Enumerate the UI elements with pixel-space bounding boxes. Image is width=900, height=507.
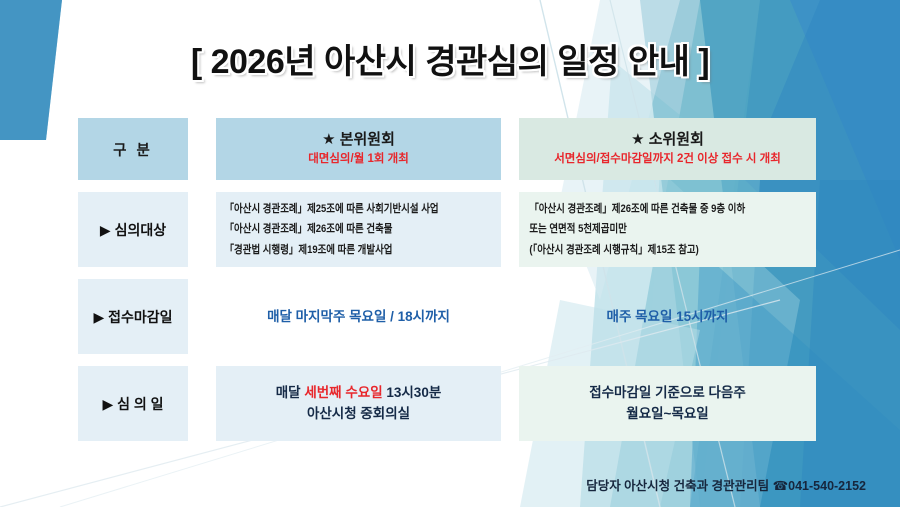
legal-line: 「아산시 경관조례」제26조에 따른 건축물 중 9층 이하 — [519, 199, 774, 219]
header-main-title: ★ 본위원회 — [322, 131, 395, 150]
star-icon: ★ — [631, 131, 644, 148]
header-cell-sub-committee: ★ 소위원회 서면심의/접수마감일까지 2건 이상 접수 시 개최 — [519, 118, 816, 180]
cell-sub-review-target: 「아산시 경관조례」제26조에 따른 건축물 중 9층 이하 또는 연면적 5천… — [519, 192, 816, 267]
slide-canvas: [ 2026년 아산시 경관심의 일정 안내 ] 구 분 ★ 본위원회 대면심의… — [0, 0, 900, 507]
table-header-row: 구 분 ★ 본위원회 대면심의/월 1회 개최 ★ 소위원회 서면심의/접수마감… — [78, 118, 826, 180]
header-sub-title: ★ 소위원회 — [631, 131, 704, 150]
footer-contact: 담당자 아산시청 건축과 경관관리팀 ☎041-540-2152 — [586, 475, 866, 494]
cell-main-review-date: 매달 세번째 수요일 13시30분 아산시청 중회의실 — [216, 366, 501, 441]
review-date-prefix: 매달 — [276, 385, 305, 400]
review-date-main-line1: 매달 세번째 수요일 13시30분 — [216, 383, 501, 403]
row-label-review-date: ▶ 심 의 일 — [78, 366, 188, 441]
legal-line: (「아산시 경관조례 시행규칙」제15조 참고) — [519, 240, 774, 260]
cell-main-review-target: 「아산시 경관조례」제25조에 따른 사회기반시설 사업 「아산시 경관조례」제… — [216, 192, 501, 267]
cell-main-submission-deadline: 매달 마지막주 목요일 / 18시까지 — [216, 279, 501, 354]
slide-title-container: [ 2026년 아산시 경관심의 일정 안내 ] — [0, 34, 900, 83]
deadline-main-text: 매달 마지막주 목요일 / 18시까지 — [216, 307, 501, 327]
review-date-sub-line1: 접수마감일 기준으로 다음주 — [519, 383, 816, 403]
legal-line: 「경관법 시행령」제19조에 따른 개발사업 — [216, 240, 461, 260]
review-date-main-line2: 아산시청 중회의실 — [216, 404, 501, 424]
table-row: ▶ 접수마감일 매달 마지막주 목요일 / 18시까지 매주 목요일 15시까지 — [78, 279, 826, 354]
row-label-submission-deadline: ▶ 접수마감일 — [78, 279, 188, 354]
header-cell-main-committee: ★ 본위원회 대면심의/월 1회 개최 — [216, 118, 501, 180]
table-row: ▶ 심의대상 「아산시 경관조례」제25조에 따른 사회기반시설 사업 「아산시… — [78, 192, 826, 267]
row-label-review-target: ▶ 심의대상 — [78, 192, 188, 267]
header-sub-title-text: 소위원회 — [649, 131, 704, 148]
review-date-sub-line2: 월요일~목요일 — [519, 404, 816, 424]
table-row: ▶ 심 의 일 매달 세번째 수요일 13시30분 아산시청 중회의실 접수마감… — [78, 366, 826, 441]
page-title: [ 2026년 아산시 경관심의 일정 안내 ] — [191, 34, 709, 83]
row-label-text: ▶ 심의대상 — [100, 220, 166, 240]
header-main-subtitle: 대면심의/월 1회 개최 — [308, 152, 409, 167]
header-main-title-text: 본위원회 — [340, 131, 395, 148]
review-date-suffix: 13시30분 — [383, 385, 442, 400]
legal-line: 「아산시 경관조례」제25조에 따른 사회기반시설 사업 — [216, 199, 461, 219]
cell-sub-review-date: 접수마감일 기준으로 다음주 월요일~목요일 — [519, 366, 816, 441]
schedule-table: 구 분 ★ 본위원회 대면심의/월 1회 개최 ★ 소위원회 서면심의/접수마감… — [78, 118, 826, 453]
legal-line: 「아산시 경관조례」제26조에 따른 건축물 — [216, 219, 461, 239]
header-cell-division: 구 분 — [78, 118, 188, 180]
header-sub-subtitle: 서면심의/접수마감일까지 2건 이상 접수 시 개최 — [554, 152, 781, 167]
row-label-text: ▶ 접수마감일 — [93, 307, 172, 327]
deadline-sub-text: 매주 목요일 15시까지 — [519, 307, 816, 327]
cell-sub-submission-deadline: 매주 목요일 15시까지 — [519, 279, 816, 354]
legal-line: 또는 연면적 5천제곱미만 — [519, 219, 774, 239]
star-icon: ★ — [322, 131, 335, 148]
review-date-highlight: 세번째 수요일 — [304, 385, 382, 400]
row-label-text: ▶ 심 의 일 — [102, 394, 163, 414]
header-label-division: 구 분 — [113, 139, 153, 160]
